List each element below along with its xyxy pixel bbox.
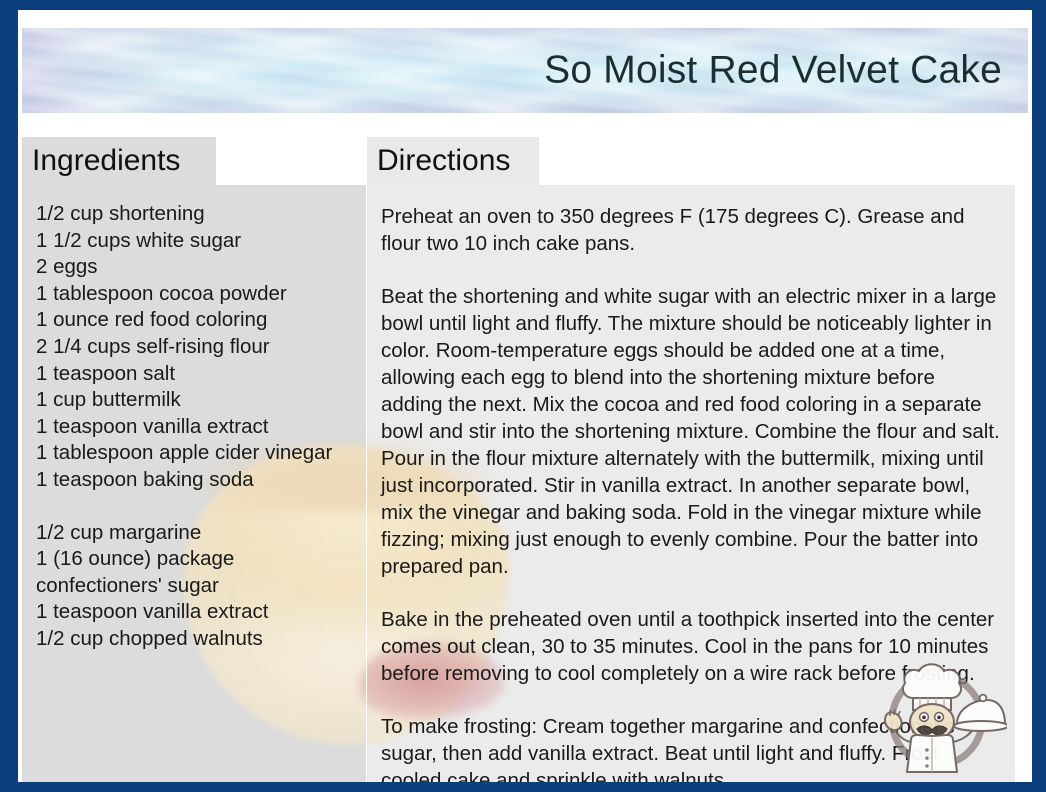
list-item: 1 teaspoon baking soda bbox=[36, 467, 352, 494]
ingredient-group-frosting: 1/2 cup margarine 1 (16 ounce) package c… bbox=[36, 520, 352, 653]
list-item: 1/2 cup margarine bbox=[36, 520, 352, 547]
recipe-card-frame: So Moist Red Velvet Cake Ingredients Dir… bbox=[0, 0, 1046, 792]
list-item: 1 tablespoon apple cider vinegar bbox=[36, 440, 352, 467]
list-item: 1 tablespoon cocoa powder bbox=[36, 281, 352, 308]
list-item: 1 1/2 cups white sugar bbox=[36, 228, 352, 255]
recipe-page: So Moist Red Velvet Cake Ingredients Dir… bbox=[18, 10, 1032, 782]
list-item: 1 (16 ounce) package bbox=[36, 546, 352, 573]
recipe-title: So Moist Red Velvet Cake bbox=[544, 50, 1002, 89]
list-item: 1 teaspoon salt bbox=[36, 361, 352, 388]
list-item: confectioners' sugar bbox=[36, 573, 352, 600]
direction-step: Beat the shortening and white sugar with… bbox=[381, 283, 1001, 580]
list-item: 1/2 cup chopped walnuts bbox=[36, 626, 352, 653]
directions-panel: Preheat an oven to 350 degrees F (175 de… bbox=[367, 185, 1015, 782]
list-item: 2 eggs bbox=[36, 254, 352, 281]
ingredients-panel: 1/2 cup shortening 1 1/2 cups white suga… bbox=[22, 185, 366, 782]
list-item: 1 ounce red food coloring bbox=[36, 307, 352, 334]
list-item: 1 teaspoon vanilla extract bbox=[36, 414, 352, 441]
header-banner: So Moist Red Velvet Cake bbox=[22, 28, 1028, 113]
ingredients-list: 1/2 cup shortening 1 1/2 cups white suga… bbox=[22, 185, 366, 653]
list-item: 1/2 cup shortening bbox=[36, 201, 352, 228]
directions-heading: Directions bbox=[367, 137, 539, 185]
list-item: 2 1/4 cups self-rising flour bbox=[36, 334, 352, 361]
direction-step: Preheat an oven to 350 degrees F (175 de… bbox=[381, 203, 1001, 257]
chef-mascot-with-cloche-icon bbox=[879, 654, 1007, 776]
ingredient-group-cake: 1/2 cup shortening 1 1/2 cups white suga… bbox=[36, 201, 352, 494]
ingredients-heading: Ingredients bbox=[22, 137, 216, 185]
cake-jam-shape bbox=[359, 641, 366, 719]
list-item: 1 teaspoon vanilla extract bbox=[36, 599, 352, 626]
list-item: 1 cup buttermilk bbox=[36, 387, 352, 414]
